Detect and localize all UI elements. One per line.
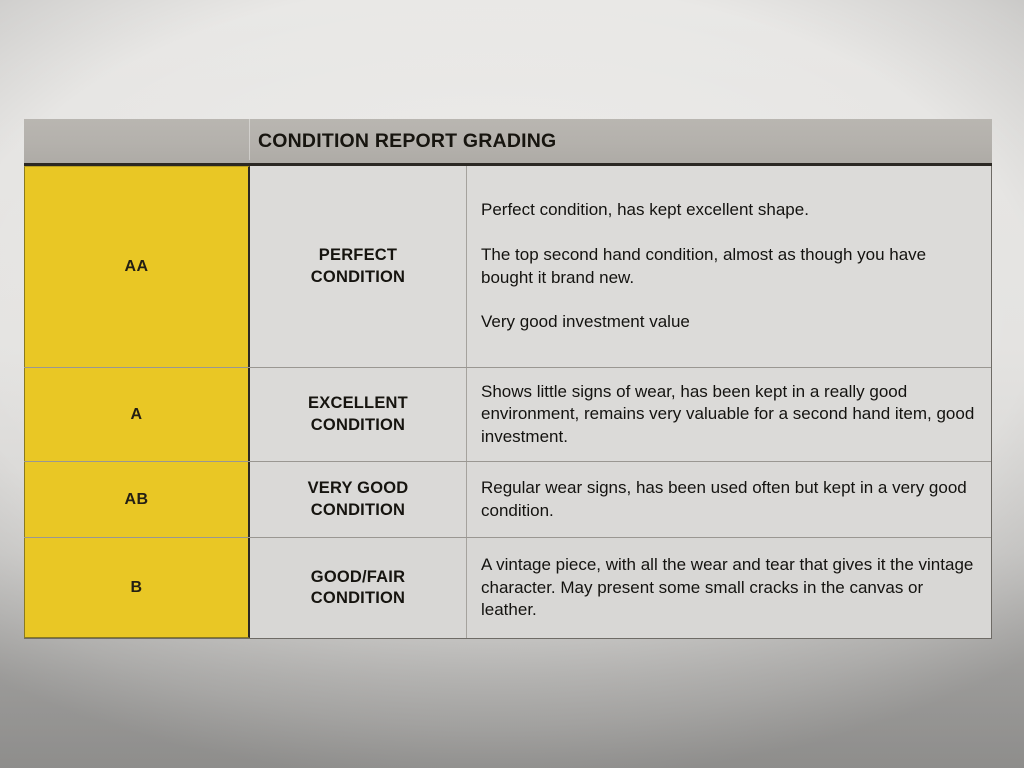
grade-cell-b: B [24, 538, 250, 638]
condition-title-line-1: PERFECT [319, 246, 397, 264]
condition-title: EXCELLENT CONDITION [308, 393, 408, 435]
description-paragraph: Shows little signs of wear, has been kep… [481, 381, 977, 449]
description-paragraph: Perfect condition, has kept excellent sh… [481, 199, 977, 222]
condition-title-cell-a: EXCELLENT CONDITION [250, 368, 467, 461]
condition-title-cell-aa: PERFECT CONDITION [250, 166, 467, 367]
table-body: AA PERFECT CONDITION Perfect condition, … [24, 166, 992, 639]
description-paragraph: The top second hand condition, almost as… [481, 244, 977, 289]
description-cell-ab: Regular wear signs, has been used often … [467, 462, 991, 537]
grade-cell-aa: AA [24, 166, 250, 367]
condition-report-grading-table: CONDITION REPORT GRADING AA PERFECT COND… [24, 119, 992, 639]
grade-cell-a: A [24, 368, 250, 461]
table-title: CONDITION REPORT GRADING [258, 130, 556, 153]
table-row: B GOOD/FAIR CONDITION A vintage piece, w… [24, 538, 991, 638]
condition-title-line-1: VERY GOOD [308, 479, 409, 497]
description-cell-a: Shows little signs of wear, has been kep… [467, 368, 991, 461]
grade-code: AB [125, 491, 149, 509]
grade-code: B [131, 579, 143, 597]
table-header: CONDITION REPORT GRADING [24, 119, 992, 166]
condition-title-line-2: CONDITION [311, 589, 405, 607]
grade-code: A [131, 406, 143, 424]
grade-cell-ab: AB [24, 462, 250, 537]
condition-title-line-2: CONDITION [311, 268, 405, 286]
condition-title-cell-b: GOOD/FAIR CONDITION [250, 538, 467, 638]
description-paragraph: A vintage piece, with all the wear and t… [481, 554, 977, 622]
condition-title: VERY GOOD CONDITION [308, 478, 409, 520]
condition-title-line-2: CONDITION [311, 416, 405, 434]
condition-title-line-1: EXCELLENT [308, 394, 408, 412]
table-row: AB VERY GOOD CONDITION Regular wear sign… [24, 462, 991, 538]
condition-title: PERFECT CONDITION [311, 245, 405, 287]
header-column-divider [249, 119, 250, 160]
condition-title-line-2: CONDITION [311, 501, 405, 519]
condition-title-line-1: GOOD/FAIR [311, 568, 405, 586]
description-paragraph: Very good investment value [481, 311, 977, 334]
table-row: AA PERFECT CONDITION Perfect condition, … [24, 166, 991, 368]
table-row: A EXCELLENT CONDITION Shows little signs… [24, 368, 991, 462]
grade-code: AA [125, 258, 149, 276]
condition-title: GOOD/FAIR CONDITION [311, 567, 405, 609]
description-paragraph: Regular wear signs, has been used often … [481, 477, 977, 522]
description-cell-aa: Perfect condition, has kept excellent sh… [467, 166, 991, 367]
condition-title-cell-ab: VERY GOOD CONDITION [250, 462, 467, 537]
description-cell-b: A vintage piece, with all the wear and t… [467, 538, 991, 638]
